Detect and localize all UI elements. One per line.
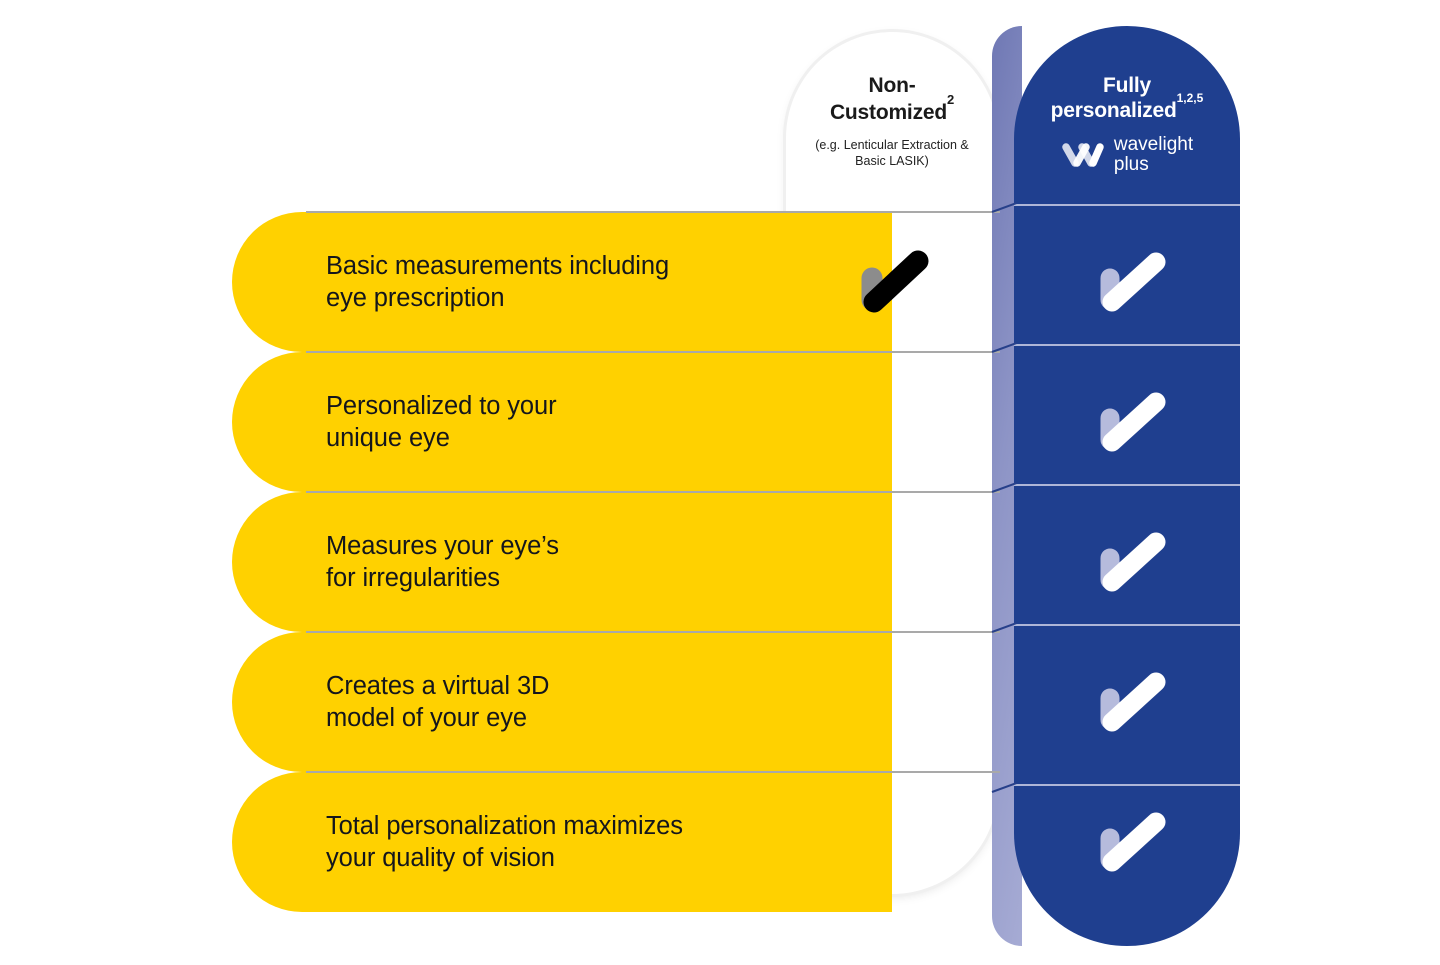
row-divider-blue — [1014, 484, 1240, 486]
comparison-chart: Non- Customized2 (e.g. Lenticular Extrac… — [0, 0, 1440, 965]
table-row: Creates a virtual 3D model of your eye — [232, 632, 892, 772]
checkmark-fully-personalized-row-2 — [1086, 388, 1176, 468]
wavelight-w-logo-icon — [1061, 140, 1105, 170]
row-divider-blue — [1014, 784, 1240, 786]
row-divider-blue — [1014, 204, 1240, 206]
table-row: Personalized to your unique eye — [232, 352, 892, 492]
title-line-1: Fully — [1103, 74, 1151, 97]
table-row: Measures your eye’s for irregularities — [232, 492, 892, 632]
table-row: Total personalization maximizes your qua… — [232, 772, 892, 912]
row-divider-blue — [1014, 344, 1240, 346]
row-divider-blue — [1014, 624, 1240, 626]
row-label: Basic measurements including eye prescri… — [326, 250, 669, 315]
row-divider — [306, 771, 1000, 773]
wavelight-brand-lockup: wavelight plus — [1061, 135, 1193, 175]
table-row: Basic measurements including eye prescri… — [232, 212, 892, 352]
title-line-2: personalized — [1051, 99, 1177, 122]
row-divider — [306, 631, 1000, 633]
row-label: Measures your eye’s for irregularities — [326, 530, 559, 595]
row-divider — [306, 211, 1000, 213]
checkmark-fully-personalized-row-1 — [1086, 248, 1176, 328]
row-label: Creates a virtual 3D model of your eye — [326, 670, 549, 735]
checkmark-non-customized-row-1 — [846, 246, 936, 326]
column-fully-personalized-title: Fully personalized1,2,5 — [1051, 73, 1204, 123]
title-superscript: 1,2,5 — [1177, 91, 1204, 105]
wavelight-brand-name: wavelight plus — [1114, 135, 1193, 175]
column-fully-personalized-header: Fully personalized1,2,5 wavelight plus — [1014, 26, 1240, 212]
row-label: Personalized to your unique eye — [326, 390, 556, 455]
row-divider — [306, 491, 1000, 493]
checkmark-fully-personalized-row-4 — [1086, 668, 1176, 748]
checkmark-fully-personalized-row-3 — [1086, 528, 1176, 608]
row-divider — [306, 351, 1000, 353]
row-label: Total personalization maximizes your qua… — [326, 810, 683, 875]
checkmark-fully-personalized-row-5 — [1086, 808, 1176, 888]
